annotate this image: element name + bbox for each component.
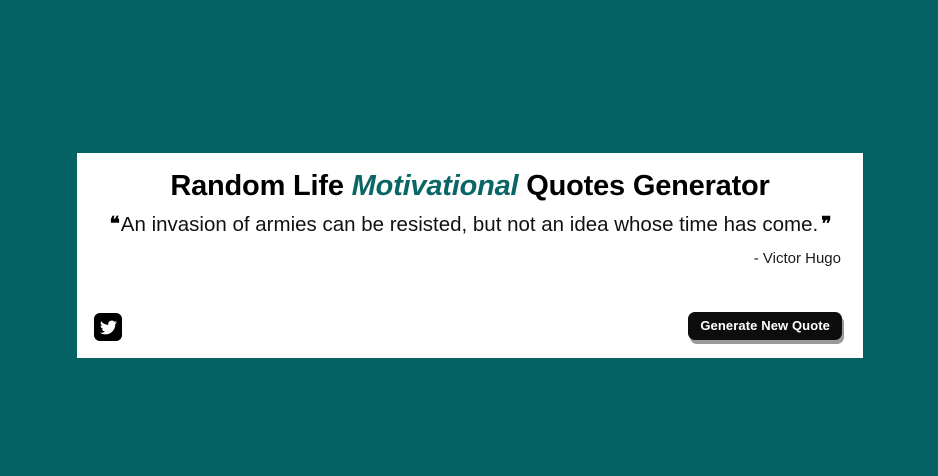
quote-body: An invasion of armies can be resisted, b…	[121, 213, 818, 236]
quote-author: - Victor Hugo	[77, 237, 863, 268]
page-title-accent: Motivational	[352, 170, 519, 202]
page-title-part-2: Quotes Generator	[518, 170, 769, 202]
twitter-share-icon[interactable]	[94, 313, 122, 341]
page-title-part-1: Random Life	[170, 170, 351, 202]
card-footer: Generate New Quote	[77, 300, 863, 358]
page-title: Random Life Motivational Quotes Generato…	[77, 153, 863, 203]
generate-new-quote-button[interactable]: Generate New Quote	[688, 312, 842, 340]
twitter-bird-icon	[100, 319, 117, 336]
app-background: Random Life Motivational Quotes Generato…	[0, 0, 938, 476]
quote-card: Random Life Motivational Quotes Generato…	[77, 153, 863, 358]
quote-close-mark-icon: ❞	[821, 214, 830, 235]
quote-open-mark-icon: ❝	[110, 214, 119, 235]
quote-text: ❝An invasion of armies can be resisted, …	[77, 203, 863, 237]
